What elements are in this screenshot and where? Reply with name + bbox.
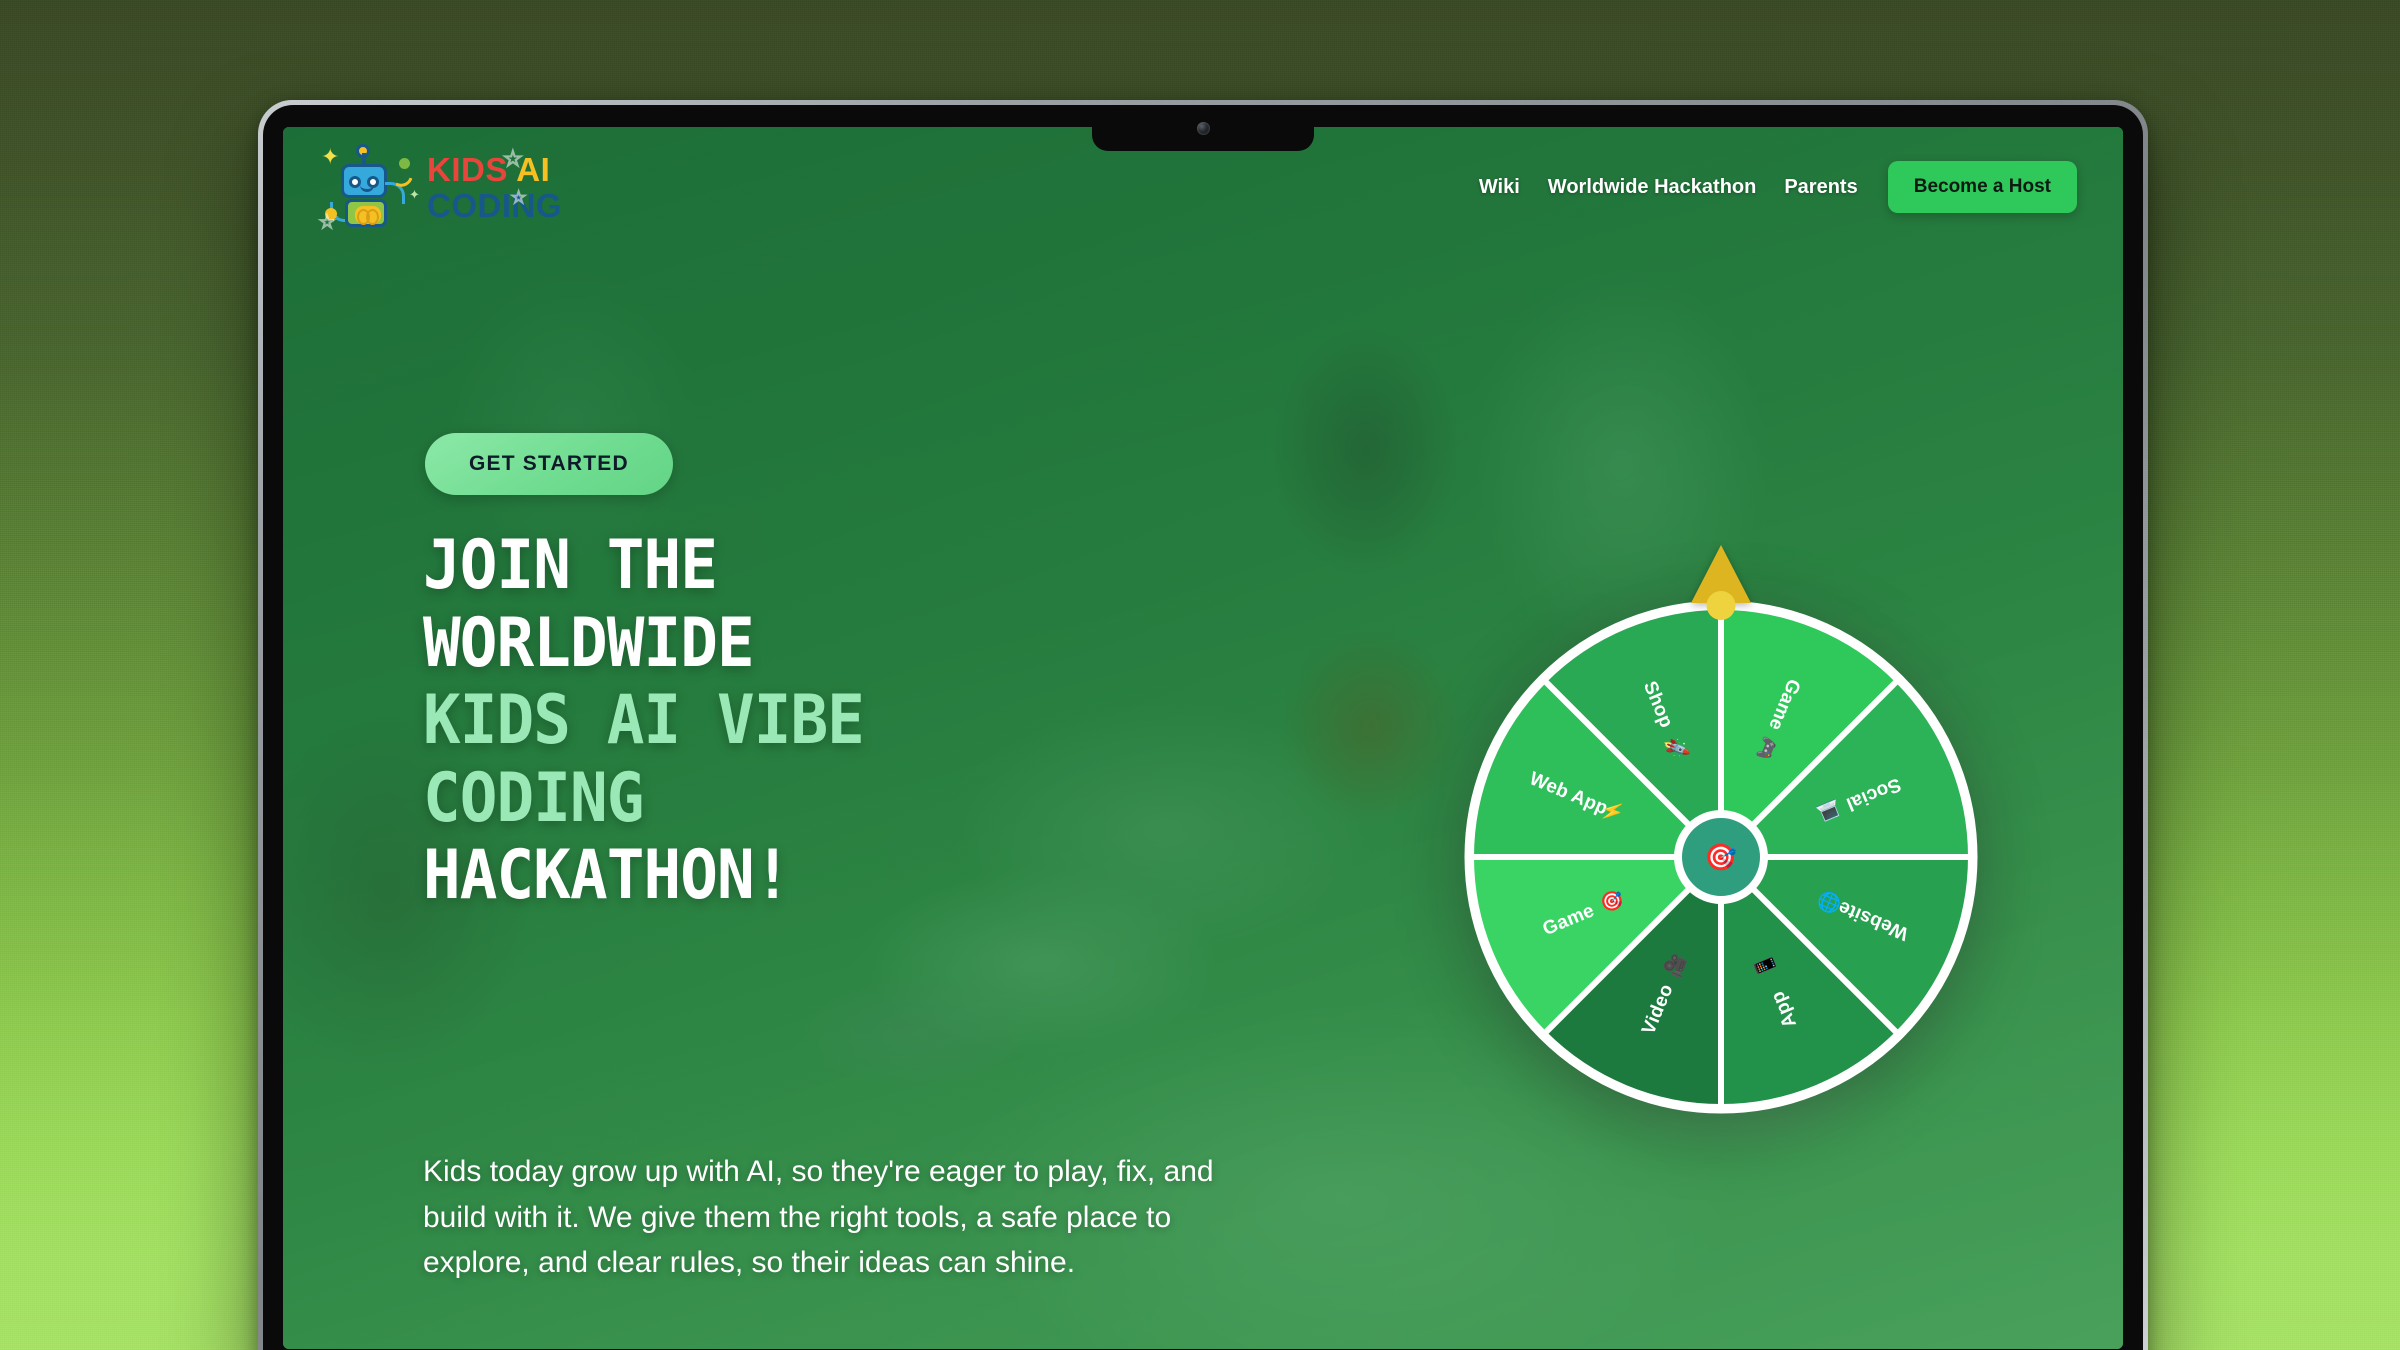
get-started-button[interactable]: GET STARTED (425, 433, 673, 495)
logo-wordmark: KIDS AI CODING (427, 153, 562, 222)
headline-line-5: HACKATHON! (423, 837, 864, 915)
site-logo[interactable]: ✦ ✦ ✦ (325, 144, 562, 230)
logo-text-kids: KIDS (427, 151, 508, 188)
prize-spinner-wheel[interactable]: Game🎮Social💻Website🌐App📱Video🎥Game🎯Web A… (1461, 597, 1981, 1117)
main-navigation: Wiki Worldwide Hackathon Parents Become … (1465, 161, 2077, 213)
become-a-host-button[interactable]: Become a Host (1888, 161, 2077, 213)
dot-decoration (399, 158, 410, 169)
headline-line-3: KIDS AI VIBE (423, 682, 864, 760)
laptop-notch (1092, 105, 1314, 151)
robot-brain-icon (355, 206, 381, 224)
headline-line-2: WORLDWIDE (423, 605, 864, 683)
star-outline-icon: ☆ (503, 146, 523, 172)
page-title: JOIN THE WORLDWIDE KIDS AI VIBE CODING H… (423, 527, 864, 915)
hero-paragraph: Kids today grow up with AI, so they're e… (423, 1149, 1243, 1286)
target-icon: 🎯 (1705, 842, 1737, 872)
website-screen: ✦ ✦ ✦ (283, 127, 2123, 1349)
sparkle-icon: ✦ (409, 188, 420, 201)
wheel-graphic[interactable]: Game🎮Social💻Website🌐App📱Video🎥Game🎯Web A… (1461, 597, 1981, 1117)
laptop-bezel: ✦ ✦ ✦ (263, 105, 2143, 1350)
wheel-pointer-knob (1707, 591, 1736, 620)
robot-mascot-icon: ✦ ✦ ✦ (325, 144, 413, 230)
robot-body (345, 199, 387, 227)
laptop-mockup: ✦ ✦ ✦ (258, 100, 2148, 1350)
sparkle-icon: ✦ (321, 146, 339, 168)
nav-link-worldwide-hackathon[interactable]: Worldwide Hackathon (1534, 176, 1771, 199)
robot-head (341, 164, 387, 198)
star-outline-icon: ☆ (511, 188, 526, 208)
nav-link-wiki[interactable]: Wiki (1465, 176, 1534, 199)
nav-link-parents[interactable]: Parents (1770, 176, 1871, 199)
headline-line-1: JOIN THE (423, 527, 864, 605)
logo-text-coding: CODING (427, 187, 562, 224)
camera-icon (1197, 122, 1210, 135)
headline-line-4: CODING (423, 760, 864, 838)
robot-smile (360, 185, 374, 192)
hero-section: GET STARTED JOIN THE WORLDWIDE KIDS AI V… (283, 127, 2123, 1349)
star-outline-icon: ☆ (319, 212, 335, 233)
